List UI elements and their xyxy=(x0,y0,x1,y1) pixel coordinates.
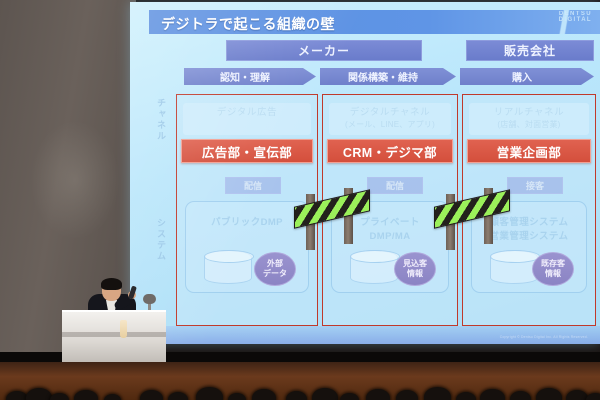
dentsu-digital-logo: DENTSUDIGITAL xyxy=(559,11,592,24)
audience-head xyxy=(140,390,163,400)
audience-head xyxy=(566,390,588,400)
dept-box-crm: CRM・デジマ部 xyxy=(327,139,453,163)
org-bar-sales-company: 販売会社 xyxy=(466,40,594,61)
presenter-hair xyxy=(101,278,122,290)
data-bubble-prospect: 見込客情報 xyxy=(394,252,436,286)
audience xyxy=(0,362,600,400)
stage-arrow-relationship: 関係構築・維持 xyxy=(320,68,456,85)
system-title: パブリックDMP xyxy=(186,216,308,230)
audience-head xyxy=(228,393,246,400)
audience-head xyxy=(510,391,531,400)
deliver-tab: 接客 xyxy=(507,177,563,194)
database-cylinder-icon xyxy=(350,250,398,284)
channel-label-text: デジタル広告 xyxy=(217,107,277,118)
dept-box-advertising: 広告部・宣伝部 xyxy=(181,139,313,163)
stage-arrow-purchase: 購入 xyxy=(460,68,594,85)
audience-head xyxy=(196,387,223,400)
stage-arrow-awareness: 認知・理解 xyxy=(184,68,316,85)
audience-head xyxy=(480,389,505,400)
microphone-stand-head xyxy=(143,294,156,304)
audience-head xyxy=(536,388,562,400)
conference-hall: デジトラで起こる組織の壁 DENTSUDIGITAL チャネル システム メーカ… xyxy=(0,0,600,400)
deliver-tab: 配信 xyxy=(225,177,281,194)
audience-head xyxy=(424,387,451,400)
audience-head xyxy=(586,393,600,400)
audience-head xyxy=(396,390,418,400)
projection-screen: デジトラで起こる組織の壁 DENTSUDIGITAL チャネル システム メーカ… xyxy=(130,2,600,344)
slide-footnote: Copyright © Dentsu Digital Inc. All Righ… xyxy=(500,335,588,339)
system-panel-public-dmp: パブリックDMP 外部データ xyxy=(185,201,309,293)
slide-title-bar: デジトラで起こる組織の壁 xyxy=(149,10,600,34)
podium xyxy=(62,310,166,366)
database-cylinder-icon xyxy=(204,250,252,284)
axis-label-channel: チャネル xyxy=(152,98,168,142)
audience-head xyxy=(168,392,188,400)
audience-head xyxy=(286,391,307,400)
channel-label-text: デジタルチャネル xyxy=(350,107,431,118)
audience-head xyxy=(26,388,52,400)
channel-label: デジタルチャネル (メール、LINE、アプリ) xyxy=(329,103,451,135)
podium-edge xyxy=(62,332,166,337)
audience-head xyxy=(366,389,390,400)
deliver-tab: 配信 xyxy=(367,177,423,194)
channel-label: デジタル広告 xyxy=(183,103,311,135)
channel-label-sub: (メール、LINE、アプリ) xyxy=(329,120,451,131)
audience-head xyxy=(6,391,28,400)
channel-label-sub: (店舗、対面営業) xyxy=(469,120,589,131)
audience-head xyxy=(456,392,476,400)
barrier-icon-left xyxy=(298,188,370,250)
audience-head xyxy=(104,394,121,400)
dept-box-sales-planning: 営業企画部 xyxy=(467,139,591,163)
audience-head xyxy=(50,393,69,400)
audience-head xyxy=(74,390,98,400)
org-bar-maker: メーカー xyxy=(226,40,422,61)
data-bubble-external: 外部データ xyxy=(254,252,296,286)
data-bubble-existing: 既存客情報 xyxy=(532,252,574,286)
page-title: デジトラで起こる組織の壁 xyxy=(161,14,335,34)
audience-head xyxy=(340,393,359,400)
wall-light-glow xyxy=(30,120,120,240)
axis-label-system: システム xyxy=(152,218,168,262)
barrier-icon-right xyxy=(438,188,510,250)
audience-head xyxy=(312,388,338,400)
audience-head xyxy=(252,389,276,400)
water-bottle xyxy=(120,320,127,338)
slide-canvas: デジトラで起こる組織の壁 DENTSUDIGITAL チャネル システム メーカ… xyxy=(130,2,600,344)
database-cylinder-icon xyxy=(490,250,538,284)
channel-label: リアルチャネル (店舗、対面営業) xyxy=(469,103,589,135)
channel-label-text: リアルチャネル xyxy=(494,107,565,118)
